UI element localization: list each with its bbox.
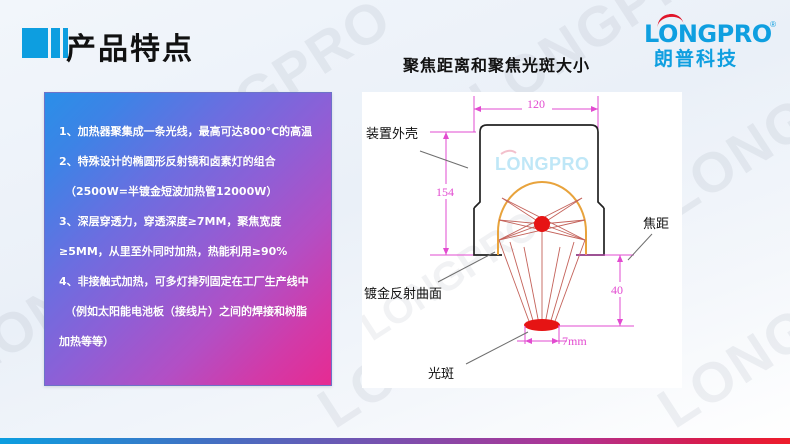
feature-card: 1、加热器聚集成一条光线，最高可达800°C的高温 2、特殊设计的椭圆形反射镜和… (44, 92, 332, 386)
label-reflector: 镀金反射曲面 (364, 286, 442, 302)
accent-bar-wide (22, 28, 48, 58)
label-spot: 光斑 (428, 367, 454, 382)
accent-bar-medium (51, 28, 60, 58)
dimension-value-focal: 40 (611, 283, 623, 297)
list-item: 4、非接触式加热，可多灯排列固定在工厂生产线中 (59, 267, 317, 297)
list-item: 3、深层穿透力，穿透深度≥7MM，聚焦宽度 (59, 207, 317, 237)
slide-canvas: LONGPRO LONGPRO LONGPRO LONGPRO LONGPRO … (0, 0, 790, 444)
focal-spot-icon (524, 319, 560, 331)
focus-distance-diagram: LONGPRO 120 154 (362, 92, 682, 388)
callout-focal-distance: 焦距 (628, 217, 669, 260)
dimension-width-120: 120 (474, 96, 598, 132)
feature-list: 1、加热器聚集成一条光线，最高可达800°C的高温 2、特殊设计的椭圆形反射镜和… (45, 93, 331, 357)
dimension-focal-40: 40 (558, 255, 634, 326)
header-accent-bars (22, 28, 68, 58)
label-housing: 装置外壳 (366, 127, 418, 142)
list-item: ≥5MM，从里至外同时加热，热能利用≥90% (59, 237, 317, 267)
callout-housing: 装置外壳 (366, 127, 468, 168)
logo-registered-icon: ® (770, 20, 776, 29)
list-item: 1、加热器聚集成一条光线，最高可达800°C的高温 (59, 117, 317, 147)
diagram-panel: LONGPRO 120 154 (362, 92, 682, 388)
company-logo: LONGPRO ® 朗普科技 (644, 16, 776, 68)
halogen-lamp-icon (534, 216, 550, 232)
housing-brand-mark: LONGPRO (495, 151, 590, 174)
page-title: 产品特点 (66, 24, 194, 68)
bottom-accent-bar (0, 438, 790, 444)
logo-brand-chinese: 朗普科技 (654, 44, 738, 71)
list-item: （例如太阳能电池板（接线片）之间的焊接和树脂 (59, 297, 317, 327)
diagram-title: 聚焦距离和聚焦光斑大小 (403, 52, 590, 76)
dimension-value-spot: 7mm (562, 334, 587, 348)
list-item: （2500W=半镀金短波加热管12000W） (59, 177, 317, 207)
list-item: 2、特殊设计的椭圆形反射镜和卤素灯的组合 (59, 147, 317, 177)
callout-spot: 光斑 (428, 332, 528, 382)
svg-text:LONGPRO: LONGPRO (495, 154, 590, 174)
dimension-value-height: 154 (436, 185, 454, 199)
dimension-value-width: 120 (527, 97, 545, 111)
label-focal-distance: 焦距 (643, 217, 669, 232)
list-item: 加热等等） (59, 327, 317, 357)
